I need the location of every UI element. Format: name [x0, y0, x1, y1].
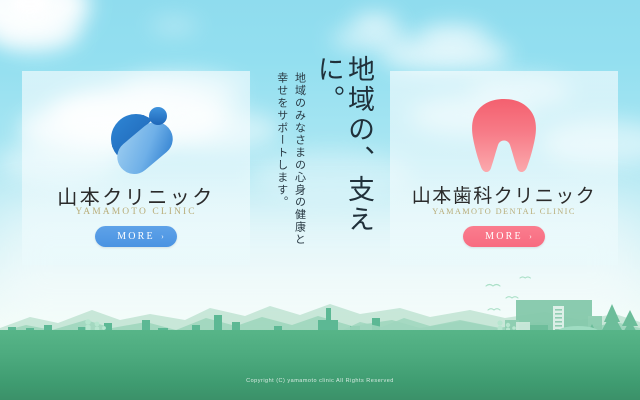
dental-name-ja: 山本歯科クリニック: [390, 181, 618, 208]
more-button-label: MORE: [485, 231, 523, 242]
more-button-label: MORE: [117, 231, 155, 242]
more-button-dental[interactable]: MORE ›: [463, 226, 545, 247]
chevron-right-icon: ›: [161, 233, 166, 241]
ground-field: [0, 330, 640, 400]
hero-subline-1: 地域のみなさまの心身の健康と: [292, 72, 307, 246]
footer-copyright: Copyright (C) yamamoto clinic All Rights…: [0, 378, 640, 384]
card-dental[interactable]: 山本歯科クリニック YAMAMOTO DENTAL CLINIC MORE ›: [390, 71, 618, 265]
dental-logo-wrap: [390, 85, 618, 185]
clinic-logo-wrap: [22, 85, 250, 185]
clinic-name-ja: 山本クリニック: [22, 181, 250, 210]
dental-name-en: YAMAMOTO DENTAL CLINIC: [390, 207, 618, 216]
chevron-right-icon: ›: [529, 233, 534, 241]
more-button-clinic[interactable]: MORE ›: [95, 226, 177, 247]
hero-headline: 地域の、支えに。: [314, 55, 374, 270]
clinic-capsule-logo-icon: [86, 89, 186, 181]
card-clinic[interactable]: 山本クリニック YAMAMOTO CLINIC MORE ›: [22, 71, 250, 265]
hero-copy: 地域の、支えに。 地域のみなさまの心身の健康と 幸せをサポートします。: [278, 50, 374, 270]
clinic-name-en: YAMAMOTO CLINIC: [22, 207, 250, 217]
tooth-logo-icon: [459, 89, 549, 181]
hero-subline-2: 幸せをサポートします。: [274, 72, 289, 208]
landing-page: 山本クリニック YAMAMOTO CLINIC MORE › 山本歯科クリニック…: [0, 0, 640, 400]
